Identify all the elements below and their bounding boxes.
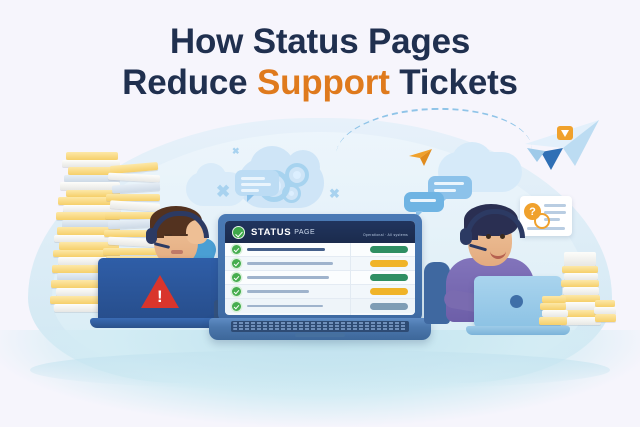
check-icon	[232, 259, 241, 268]
service-name-bar	[247, 248, 325, 251]
ground-shadow-soft	[30, 350, 610, 390]
status-page-meta-text: Operational · All systems	[363, 233, 408, 237]
service-name-bar	[247, 290, 309, 293]
status-pill	[370, 288, 408, 295]
status-page-brand: STATUS	[251, 227, 291, 238]
status-page-header: STATUS PAGE Operational · All systems	[225, 221, 415, 243]
status-pill	[370, 246, 408, 253]
service-name-bar	[247, 276, 329, 279]
ticket-stack-small	[548, 252, 618, 328]
status-page-brand-suffix: PAGE	[294, 229, 315, 236]
laptop-trackpad[interactable]	[295, 333, 345, 337]
status-pill	[370, 303, 408, 310]
title-line-1: How Status Pages	[0, 22, 640, 63]
agent-eye	[180, 234, 188, 236]
doc-line	[544, 211, 566, 214]
check-icon	[232, 287, 241, 296]
gear-icon	[282, 184, 301, 203]
service-name-bar	[247, 305, 323, 308]
chat-bubble	[235, 170, 279, 196]
title-line-2-suffix: Tickets	[390, 63, 518, 102]
laptop-screen: STATUS PAGE Operational · All systems	[225, 221, 415, 315]
status-page-laptop: STATUS PAGE Operational · All systems	[218, 214, 422, 344]
status-row[interactable]	[225, 243, 415, 257]
page-title: How Status Pages Reduce Support Tickets	[0, 22, 640, 103]
check-icon	[232, 302, 241, 311]
check-icon	[232, 273, 241, 282]
status-row[interactable]	[225, 285, 415, 299]
paper-plane-small-svg	[408, 148, 434, 168]
agent-eye	[500, 234, 505, 239]
status-row[interactable]	[225, 271, 415, 285]
laptop-logo-icon	[510, 295, 523, 308]
status-column-divider	[350, 243, 351, 315]
status-page-meta: Operational · All systems	[363, 223, 408, 241]
paper-plane-svg	[523, 118, 603, 180]
paper-plane-small-icon	[408, 148, 434, 173]
illustration-canvas: How Status Pages Reduce Support Tickets …	[0, 0, 640, 427]
agent-eye	[486, 234, 491, 239]
warning-exclamation: !	[157, 288, 163, 305]
headset-earcup	[460, 228, 472, 245]
service-name-bar	[247, 262, 333, 265]
title-line-2-highlight: Support	[257, 63, 390, 102]
status-pill	[370, 274, 408, 281]
agent-eye	[164, 234, 172, 236]
status-indicator-icon	[232, 226, 245, 239]
status-row[interactable]	[225, 299, 415, 313]
x-mark-icon: ✖	[329, 186, 340, 202]
check-icon	[232, 245, 241, 254]
doc-line	[544, 204, 566, 207]
agent-mouth	[171, 250, 183, 254]
status-pill	[370, 260, 408, 267]
paper-plane-icon	[523, 118, 603, 185]
status-row[interactable]	[225, 257, 415, 271]
laptop-base	[209, 318, 431, 340]
laptop-keyboard[interactable]	[231, 321, 409, 332]
laptop-lid: STATUS PAGE Operational · All systems	[218, 214, 422, 322]
x-mark-icon: ✖	[232, 146, 240, 157]
title-line-2-prefix: Reduce	[122, 63, 257, 102]
